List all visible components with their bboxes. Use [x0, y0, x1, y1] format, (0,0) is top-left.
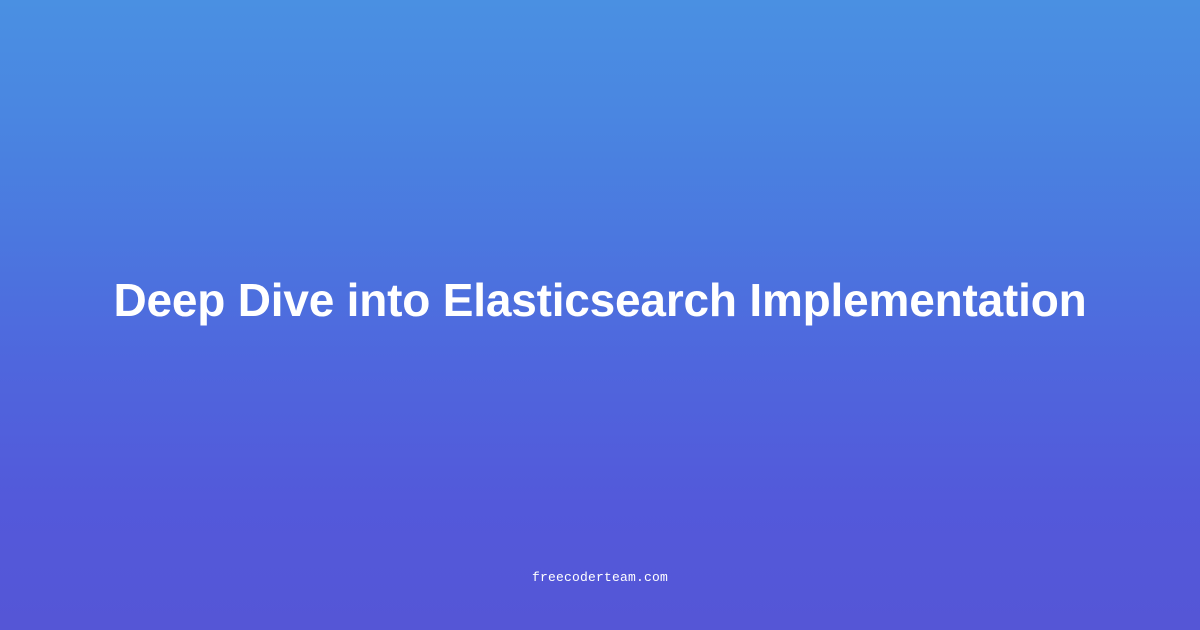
social-share-card: Deep Dive into Elasticsearch Implementat… [0, 0, 1200, 630]
title-block: Deep Dive into Elasticsearch Implementat… [0, 275, 1200, 325]
footer-block: freecoderteam.com [0, 568, 1200, 586]
page-title: Deep Dive into Elasticsearch Implementat… [110, 275, 1090, 325]
site-domain-label: freecoderteam.com [532, 570, 668, 586]
